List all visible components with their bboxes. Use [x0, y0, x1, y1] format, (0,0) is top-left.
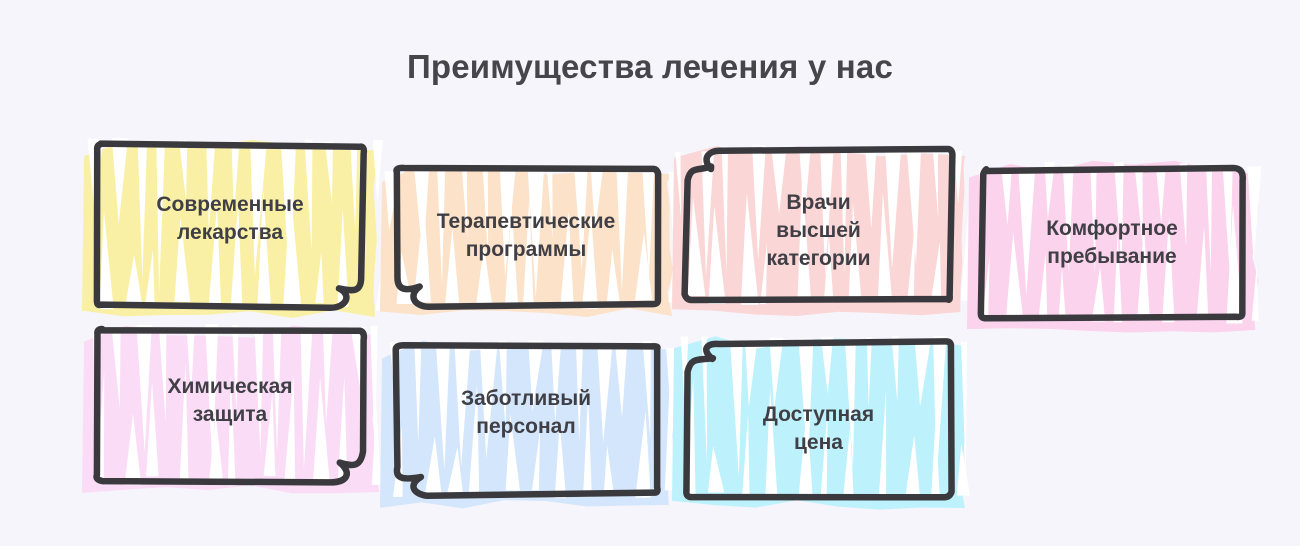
card-modern-medicines[interactable]: Современныелекарства: [96, 144, 364, 305]
highlighter-fill: [967, 161, 1261, 333]
card-chemical-protection[interactable]: Химическаязащита: [96, 330, 364, 480]
card-marker-shape: [74, 122, 386, 327]
infographic-canvas: Преимущества лечения у нас Современныеле…: [0, 0, 1300, 546]
card-caring-staff[interactable]: Заботливыйперсонал: [394, 345, 658, 493]
highlighter-fill: [380, 164, 684, 317]
card-marker-shape: [664, 319, 973, 518]
highlighter-fill: [672, 336, 970, 510]
highlighter-fill: [380, 340, 679, 508]
card-marker-shape: [372, 146, 680, 326]
card-affordable-price[interactable]: Доступнаяцена: [686, 341, 951, 496]
card-marker-shape: [664, 128, 973, 322]
card-marker-shape: [959, 146, 1265, 340]
card-therapeutic-programs[interactable]: Терапевтическиепрограммы: [394, 168, 658, 304]
card-marker-shape: [372, 323, 680, 515]
card-comfortable-stay[interactable]: Комфортноепребывание: [981, 168, 1243, 318]
page-title: Преимущества лечения у нас: [0, 48, 1300, 86]
highlighter-fill: [672, 146, 978, 316]
card-marker-shape: [74, 308, 386, 502]
card-top-category-doctors[interactable]: Врачивысшейкатегории: [686, 150, 951, 300]
highlighter-fill: [82, 324, 381, 493]
